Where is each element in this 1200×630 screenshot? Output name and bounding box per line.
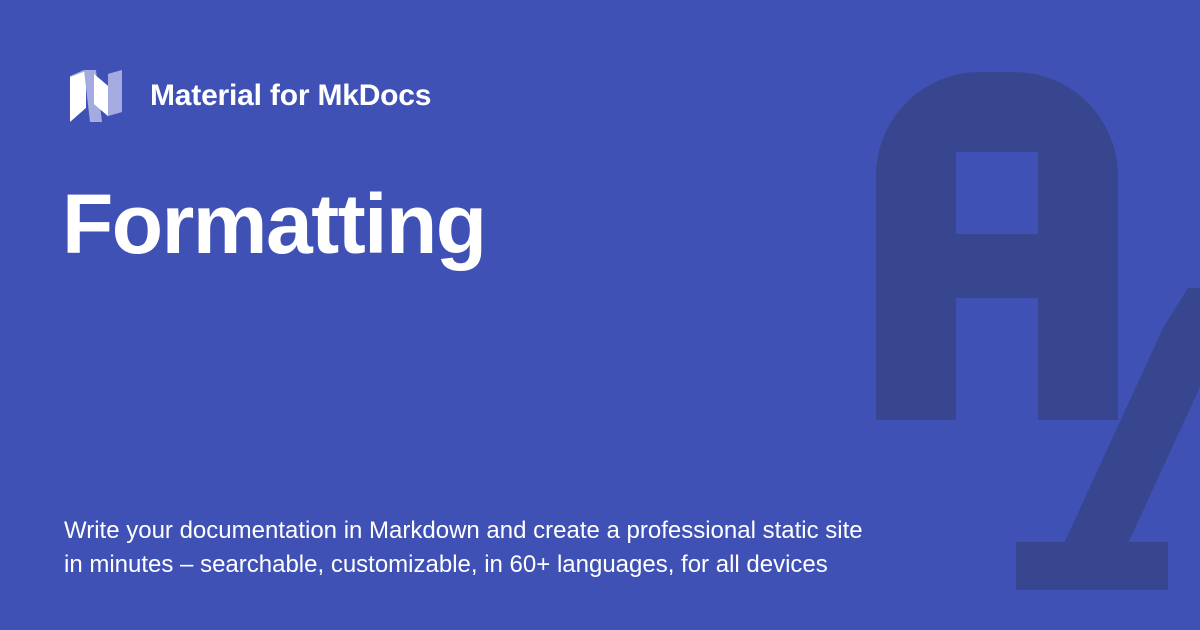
page-description: Write your documentation in Markdown and…: [64, 514, 904, 582]
page-title: Formatting: [62, 182, 842, 268]
page-title-container: Formatting: [62, 182, 842, 268]
social-card: Material for MkDocs Formatting Write you…: [0, 0, 1200, 630]
material-for-mkdocs-logo-icon: [64, 64, 128, 128]
format-font-icon: [852, 48, 1200, 624]
card-header: Material for MkDocs: [64, 64, 431, 128]
description-container: Write your documentation in Markdown and…: [64, 514, 904, 582]
description-line: in minutes – searchable, customizable, i…: [64, 548, 904, 582]
site-name: Material for MkDocs: [150, 81, 431, 111]
description-line: Write your documentation in Markdown and…: [64, 514, 904, 548]
